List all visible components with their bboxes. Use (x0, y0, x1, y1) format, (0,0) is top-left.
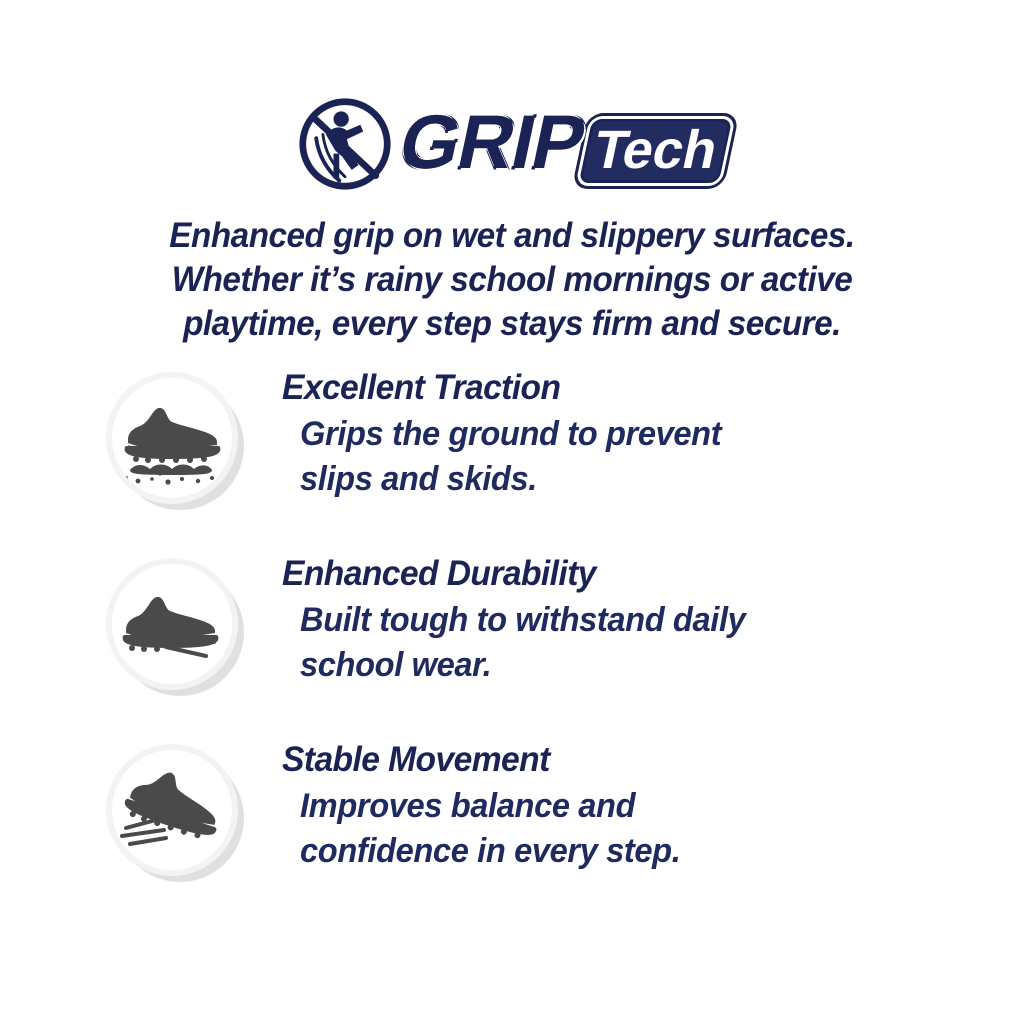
subtitle-line-2: Whether it’s rainy school mornings or ac… (26, 258, 999, 302)
feature-item: Excellent Traction Grips the ground to p… (0, 366, 1024, 552)
subtitle: Enhanced grip on wet and slippery surfac… (26, 214, 999, 346)
feature-list: Excellent Traction Grips the ground to p… (0, 366, 1024, 924)
feature-title: Excellent Traction (282, 368, 721, 408)
feature-description: Improves balance and confidence in every… (300, 784, 680, 874)
feature-text-block: Enhanced Durability Built tough to withs… (282, 552, 764, 688)
slip-hazard-circle-icon (297, 96, 393, 192)
griptech-feature-card: GRIP Tech Enhanced grip on wet and slipp… (0, 0, 1024, 1024)
feature-description: Grips the ground to prevent slips and sk… (300, 412, 721, 502)
feature-description: Built tough to withstand daily school we… (300, 598, 745, 688)
feature-title: Enhanced Durability (282, 554, 745, 594)
subtitle-line-3: playtime, every step stays firm and secu… (26, 302, 999, 346)
shoe-traction-icon (112, 378, 232, 498)
feature-item: Stable Movement Improves balance and con… (0, 738, 1024, 924)
brand-wordmark: GRIP Tech (393, 105, 735, 183)
feature-description-line-2: slips and skids. (300, 457, 721, 502)
feature-icon-badge (100, 366, 260, 526)
feature-description-line-2: school wear. (300, 643, 745, 688)
icon-badge-ring (106, 744, 238, 876)
feature-item: Enhanced Durability Built tough to withs… (0, 552, 1024, 738)
icon-badge-ring (106, 558, 238, 690)
feature-description-line-1: Improves balance and (300, 784, 680, 829)
feature-description-line-1: Built tough to withstand daily (300, 598, 745, 643)
feature-icon-badge (100, 738, 260, 898)
feature-description-line-1: Grips the ground to prevent (300, 412, 721, 457)
brand-name-grip: GRIP (393, 105, 591, 181)
brand-logo: GRIP Tech (0, 96, 1024, 192)
brand-name-tech: Tech (579, 119, 733, 183)
feature-icon-badge (100, 552, 260, 712)
feature-text-block: Excellent Traction Grips the ground to p… (282, 366, 739, 502)
feature-description-line-2: confidence in every step. (300, 829, 680, 874)
feature-text-block: Stable Movement Improves balance and con… (282, 738, 696, 874)
shoe-stability-icon (112, 750, 232, 870)
shoe-durability-icon (112, 564, 232, 684)
feature-title: Stable Movement (282, 740, 680, 780)
icon-badge-ring (106, 372, 238, 504)
subtitle-line-1: Enhanced grip on wet and slippery surfac… (26, 214, 999, 258)
